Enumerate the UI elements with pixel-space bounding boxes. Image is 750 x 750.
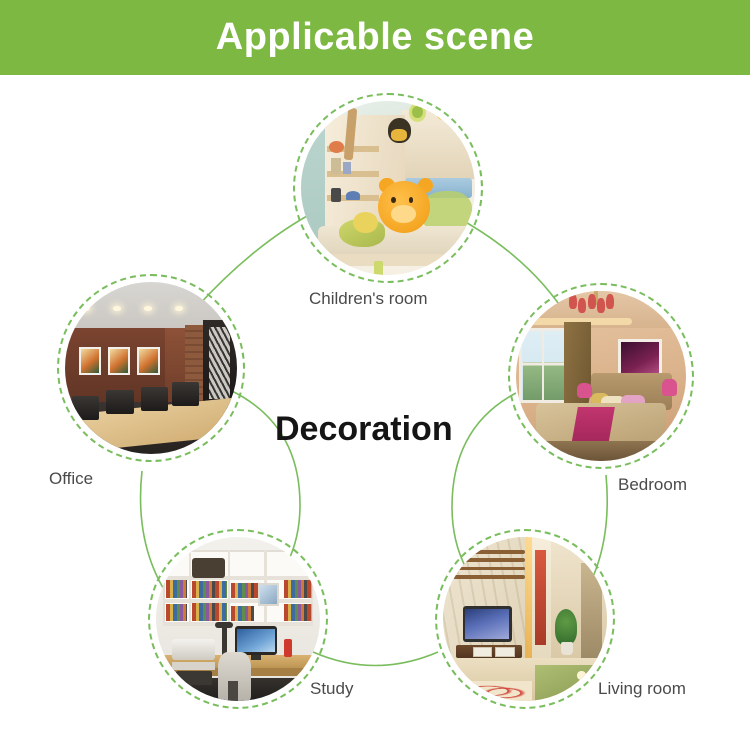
node-children-room[interactable]: Children's room (293, 93, 483, 283)
applicable-scene-diagram: Children's room (0, 75, 750, 750)
node-living-room[interactable]: Living room (435, 529, 615, 709)
bedroom-label: Bedroom (618, 475, 687, 495)
living-room-scene (443, 537, 607, 701)
children-room-scene (301, 101, 475, 275)
living-room-photo (443, 537, 607, 701)
office-label: Office (49, 469, 93, 489)
study-photo (156, 537, 320, 701)
office-scene (65, 282, 237, 454)
node-study[interactable]: Study (148, 529, 328, 709)
arc-living-study (313, 652, 438, 666)
study-label: Study (310, 679, 353, 699)
bedroom-photo (516, 291, 686, 461)
children-room-photo (301, 101, 475, 275)
diagram-center-label: Decoration (275, 410, 453, 449)
node-bedroom[interactable]: Bedroom (508, 283, 694, 469)
header-banner: Applicable scene (0, 0, 750, 75)
study-scene (156, 537, 320, 701)
node-office[interactable]: Office (57, 274, 245, 462)
bedroom-scene (516, 291, 686, 461)
children-room-label: Children's room (309, 289, 428, 309)
page-title: Applicable scene (216, 16, 534, 59)
living-room-label: Living room (598, 679, 686, 699)
office-photo (65, 282, 237, 454)
